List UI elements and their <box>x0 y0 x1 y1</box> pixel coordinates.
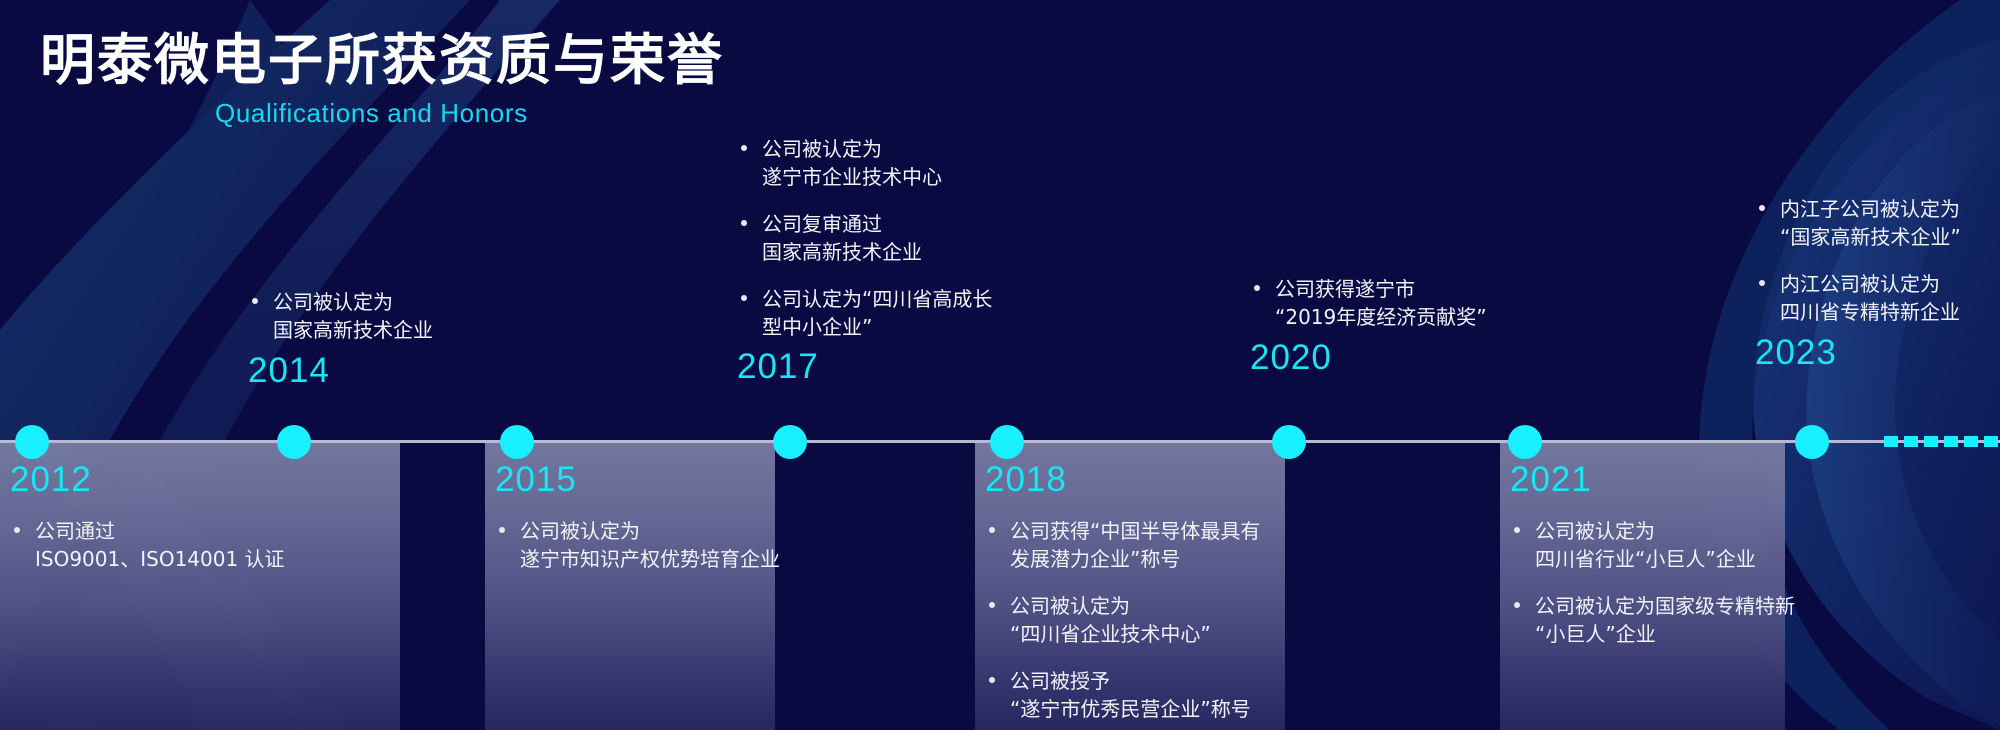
entry-2020-year: 2020 <box>1250 340 1540 375</box>
entry-2015-list: 公司被认定为 遂宁市知识产权优势培育企业 <box>495 517 785 574</box>
entry-2014: 公司被认定为 国家高新技术企业 2014 <box>248 288 498 388</box>
entry-2018-list: 公司获得“中国半导体最具有 发展潜力企业”称号 公司被认定为 “四川省企业技术中… <box>985 517 1285 723</box>
timeline-node-2012[interactable] <box>15 425 49 459</box>
entry-2021-list: 公司被认定为 四川省行业“小巨人”企业 公司被认定为国家级专精特新 “小巨人”企… <box>1510 517 1830 649</box>
timeline-node-2020[interactable] <box>1272 425 1306 459</box>
timeline-infographic: 明泰微电子所获资质与荣誉 Qualifications and Honors 公… <box>0 0 2000 730</box>
list-item: 公司被认定为 “四川省企业技术中心” <box>985 592 1285 649</box>
entry-2021: 2021 公司被认定为 四川省行业“小巨人”企业 公司被认定为国家级专精特新 “… <box>1510 462 1830 649</box>
entry-2012: 2012 公司通过 ISO9001、ISO14001 认证 <box>10 462 320 574</box>
entry-2012-list: 公司通过 ISO9001、ISO14001 认证 <box>10 517 320 574</box>
timeline-node-2015[interactable] <box>500 425 534 459</box>
page-title: 明泰微电子所获资质与荣誉 <box>40 30 724 92</box>
timeline-node-2014[interactable] <box>277 425 311 459</box>
entry-2017-list: 公司被认定为 遂宁市企业技术中心 公司复审通过 国家高新技术企业 公司认定为“四… <box>737 135 1027 341</box>
entry-2018-year: 2018 <box>985 462 1285 497</box>
entry-2018: 2018 公司获得“中国半导体最具有 发展潜力企业”称号 公司被认定为 “四川省… <box>985 462 1285 723</box>
list-item: 公司被认定为 国家高新技术企业 <box>248 288 498 345</box>
header: 明泰微电子所获资质与荣誉 Qualifications and Honors <box>40 30 724 129</box>
entry-2017-year: 2017 <box>737 349 1027 384</box>
entry-2021-year: 2021 <box>1510 462 1830 497</box>
entry-2020-list: 公司获得遂宁市 “2019年度经济贡献奖” <box>1250 275 1540 332</box>
entry-2014-year: 2014 <box>248 353 498 388</box>
list-item: 内江子公司被认定为 “国家高新技术企业” <box>1755 195 2000 252</box>
page-subtitle: Qualifications and Honors <box>215 98 724 129</box>
axis-dash-5 <box>1964 436 1978 447</box>
entry-2023-year: 2023 <box>1755 335 2000 370</box>
entry-2017: 公司被认定为 遂宁市企业技术中心 公司复审通过 国家高新技术企业 公司认定为“四… <box>737 135 1027 384</box>
list-item: 公司通过 ISO9001、ISO14001 认证 <box>10 517 320 574</box>
axis-dash-2 <box>1904 436 1918 447</box>
entry-2023-list: 内江子公司被认定为 “国家高新技术企业” 内江公司被认定为 四川省专精特新企业 <box>1755 195 2000 327</box>
list-item: 公司认定为“四川省高成长 型中小企业” <box>737 285 1027 342</box>
list-item: 内江公司被认定为 四川省专精特新企业 <box>1755 270 2000 327</box>
list-item: 公司被授予 “遂宁市优秀民营企业”称号 <box>985 667 1285 724</box>
axis-dash-1 <box>1884 436 1898 447</box>
list-item: 公司被认定为 遂宁市知识产权优势培育企业 <box>495 517 785 574</box>
timeline-node-2018[interactable] <box>990 425 1024 459</box>
entry-2023: 内江子公司被认定为 “国家高新技术企业” 内江公司被认定为 四川省专精特新企业 … <box>1755 195 2000 370</box>
entry-2015: 2015 公司被认定为 遂宁市知识产权优势培育企业 <box>495 462 785 574</box>
list-item: 公司获得遂宁市 “2019年度经济贡献奖” <box>1250 275 1540 332</box>
list-item: 公司复审通过 国家高新技术企业 <box>737 210 1027 267</box>
list-item: 公司被认定为 四川省行业“小巨人”企业 <box>1510 517 1830 574</box>
entry-2020: 公司获得遂宁市 “2019年度经济贡献奖” 2020 <box>1250 275 1540 375</box>
axis-dash-4 <box>1944 436 1958 447</box>
list-item: 公司获得“中国半导体最具有 发展潜力企业”称号 <box>985 517 1285 574</box>
axis-dash-3 <box>1924 436 1938 447</box>
entry-2014-list: 公司被认定为 国家高新技术企业 <box>248 288 498 345</box>
entry-2015-year: 2015 <box>495 462 785 497</box>
timeline-node-2021[interactable] <box>1508 425 1542 459</box>
timeline-node-2023[interactable] <box>1795 425 1829 459</box>
list-item: 公司被认定为 遂宁市企业技术中心 <box>737 135 1027 192</box>
axis-dash-6 <box>1984 436 1998 447</box>
list-item: 公司被认定为国家级专精特新 “小巨人”企业 <box>1510 592 1830 649</box>
timeline-node-2017[interactable] <box>773 425 807 459</box>
entry-2012-year: 2012 <box>10 462 320 497</box>
